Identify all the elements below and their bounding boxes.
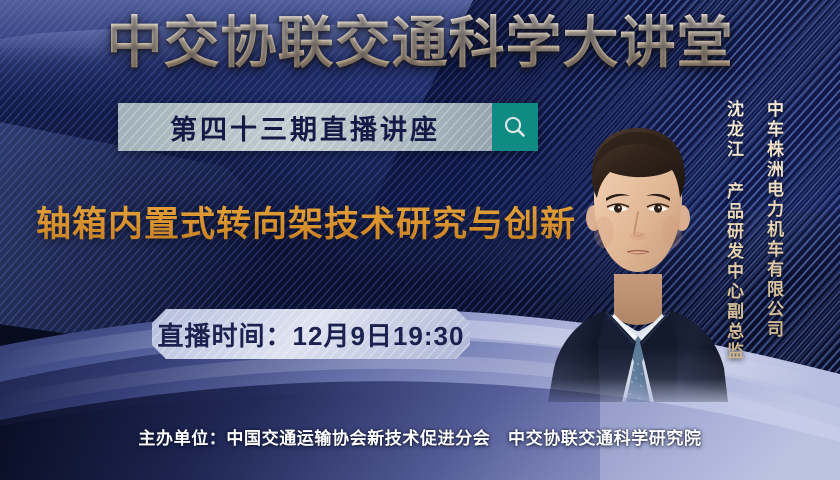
page-title: 中交协联交通科学大讲堂 xyxy=(0,14,840,73)
speaker-name-and-role: 沈龙江 产品研发中心副总监 xyxy=(721,100,746,362)
organizer-footer: 主办单位：中国交通运输协会新技术促进分会 中交协联交通科学研究院 xyxy=(0,424,840,449)
lecture-title: 轴箱内置式转向架技术研究与创新 xyxy=(36,196,576,247)
speaker-portrait xyxy=(548,106,728,402)
poster-canvas: 中交协联交通科学大讲堂 第四十三期直播讲座 轴箱内置式转向架技术研究与创新 直播… xyxy=(0,0,840,480)
session-banner-label: 第四十三期直播讲座 xyxy=(170,108,440,147)
speaker-company: 中车株洲电力机车有限公司 xyxy=(761,100,786,340)
broadcast-time-text: 直播时间：12月9日19:30 xyxy=(158,316,465,353)
search-icon-tile[interactable] xyxy=(492,103,538,151)
search-icon xyxy=(502,114,528,140)
session-banner-body: 第四十三期直播讲座 xyxy=(118,103,492,151)
session-banner: 第四十三期直播讲座 xyxy=(118,103,538,151)
broadcast-time-pill: 直播时间：12月9日19:30 xyxy=(152,309,470,359)
